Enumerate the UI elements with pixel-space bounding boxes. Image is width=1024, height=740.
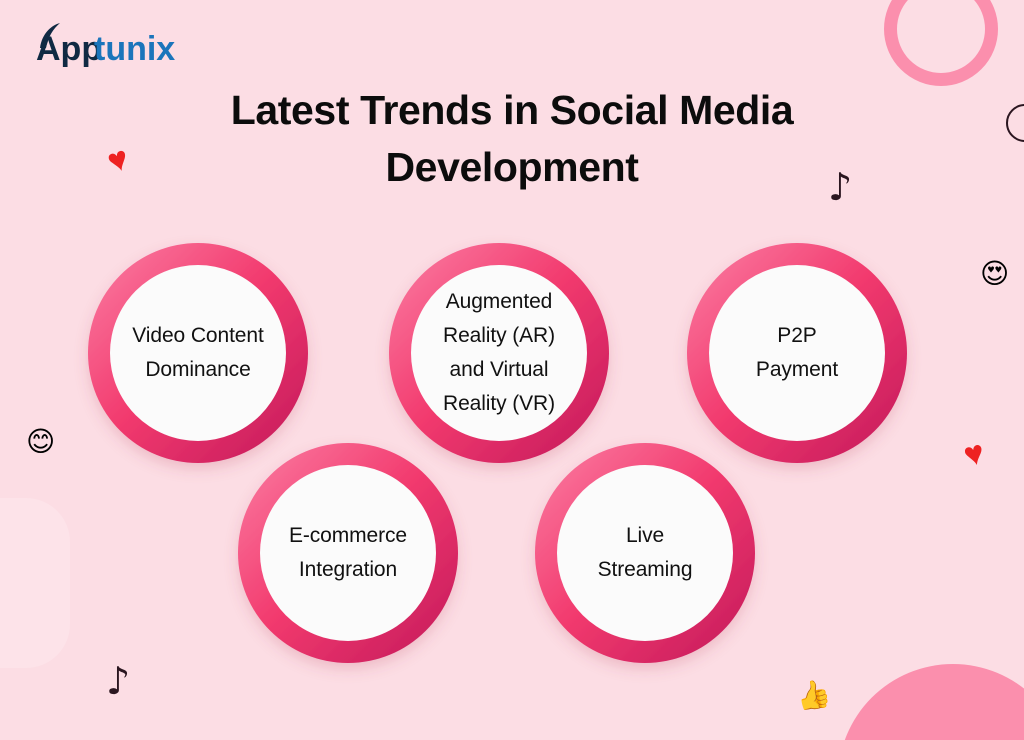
infographic-canvas: App tunix Latest Trends in Social Media …	[0, 0, 1024, 740]
node-label-augmented-virtual-reality: Augmented Reality (AR) and Virtual Reali…	[403, 285, 596, 421]
node-label-live-streaming: Live Streaming	[549, 519, 742, 587]
node-label-e-commerce-integration: E-commerce Integration	[252, 519, 445, 587]
node-label-video-content-dominance: Video Content Dominance	[102, 319, 295, 387]
node-label-p2p-payment: P2P Payment	[701, 319, 894, 387]
trends-circle-diagram: Video Content DominanceAugmented Reality…	[0, 0, 1024, 740]
